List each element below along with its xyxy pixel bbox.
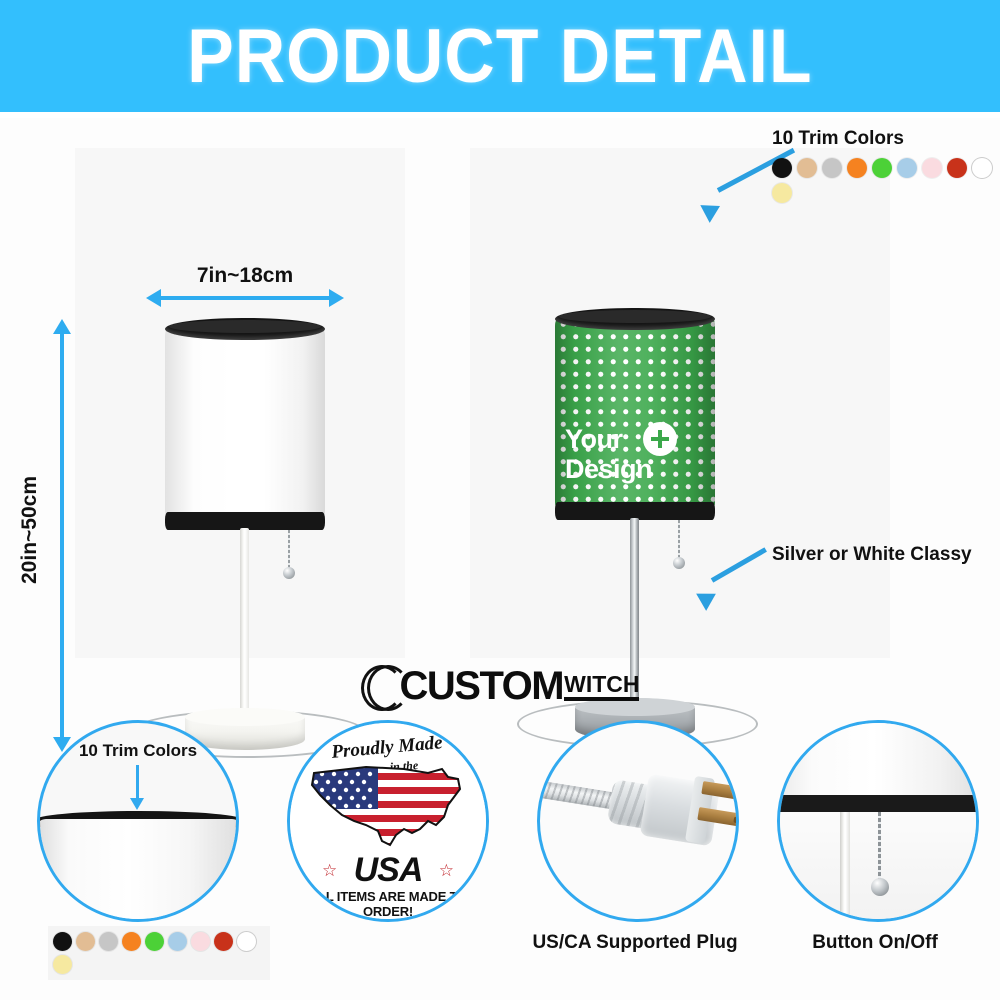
base-finish-callout-arrow: [700, 558, 780, 604]
panel-circle: [537, 720, 739, 922]
panel-made-in-usa: Proudly Made in the: [260, 714, 510, 1000]
pull-chain: [678, 520, 680, 560]
usa-sub-text: ALL ITEMS ARE MADE TO ORDER!: [290, 889, 486, 919]
panel-circle: 10 Trim Colors: [37, 720, 239, 922]
swatch-yellow[interactable]: [53, 955, 72, 974]
lamp-shade-white: [165, 318, 325, 530]
swatch-white[interactable]: [972, 158, 992, 178]
shade-trim-closeup: [777, 795, 979, 812]
panel-switch-caption: Button On/Off: [750, 932, 1000, 954]
lamp-shade-green: Your Design: [555, 308, 715, 520]
shade-surface: [165, 326, 325, 522]
swatch-light-blue[interactable]: [168, 932, 187, 951]
shade-trim-top: [165, 318, 325, 340]
shade-trim-top-cap: [169, 320, 321, 333]
trim-colors-swatch-row[interactable]: [772, 158, 1000, 203]
plus-icon: [643, 422, 677, 456]
swatch-green[interactable]: [872, 158, 892, 178]
down-arrow-icon: [136, 765, 139, 799]
logo-secondary-text: WITCH: [564, 672, 639, 701]
your-design-text: Your Design: [565, 424, 705, 484]
swatch-gray[interactable]: [99, 932, 118, 951]
swatch-yellow[interactable]: [772, 183, 792, 203]
width-dimension-label: 7in~18cm: [160, 264, 330, 288]
feature-panels: 10 Trim Colors Proudly Made in the: [0, 714, 1000, 1000]
shade-surface: Your Design: [555, 316, 715, 512]
pull-chain-ball: [673, 557, 685, 569]
swatch-white[interactable]: [237, 932, 256, 951]
design-line-2: Design: [565, 454, 705, 484]
swatch-black[interactable]: [53, 932, 72, 951]
shade-surface-closeup: [37, 819, 239, 922]
usa-badge: Proudly Made in the: [290, 723, 486, 919]
usa-map-flag-icon: [308, 759, 470, 851]
panel-trim-title: 10 Trim Colors: [40, 741, 236, 761]
logo-primary-text: CUSTOM: [400, 664, 564, 709]
swatch-pink[interactable]: [922, 158, 942, 178]
pull-chain: [288, 530, 290, 570]
pull-chain-ball: [283, 567, 295, 579]
base-finish-label: Silver or White Classy: [772, 544, 972, 566]
swatch-red[interactable]: [214, 932, 233, 951]
shade-closeup: [777, 720, 979, 799]
shade-trim-top: [555, 308, 715, 330]
panel-trim-swatch-row[interactable]: [48, 926, 270, 980]
swatch-tan[interactable]: [797, 158, 817, 178]
design-line-1: Your: [565, 424, 705, 454]
height-dimension-label: 20in~50cm: [18, 350, 42, 710]
swatch-orange[interactable]: [122, 932, 141, 951]
lamp-pole-closeup: [840, 812, 850, 922]
usa-big-text: USA: [290, 851, 486, 890]
page-title: PRODUCT DETAIL: [187, 13, 812, 100]
trim-colors-legend: 10 Trim Colors: [772, 128, 1000, 203]
swatch-red[interactable]: [947, 158, 967, 178]
product-detail-page: PRODUCT DETAIL 7in~18cm 20in~50cm: [0, 0, 1000, 1000]
header-banner: PRODUCT DETAIL: [0, 0, 1000, 112]
swatch-gray[interactable]: [822, 158, 842, 178]
shade-trim-top-cap: [559, 310, 711, 323]
swatch-black[interactable]: [772, 158, 792, 178]
c-ring-icon: [361, 665, 403, 707]
swatch-pink[interactable]: [191, 932, 210, 951]
panel-switch: Button On/Off: [750, 714, 1000, 1000]
panel-plug: US/CA Supported Plug: [510, 714, 760, 1000]
panel-circle: [777, 720, 979, 922]
star-icon-right: ☆: [439, 861, 454, 881]
swatch-green[interactable]: [145, 932, 164, 951]
swatch-light-blue[interactable]: [897, 158, 917, 178]
panel-plug-caption: US/CA Supported Plug: [510, 932, 760, 954]
brand-logo: CUSTOM WITCH: [0, 662, 1000, 710]
panel-circle: Proudly Made in the: [287, 720, 489, 922]
swatch-orange[interactable]: [847, 158, 867, 178]
swatch-tan[interactable]: [76, 932, 95, 951]
pull-chain-closeup: [878, 812, 881, 882]
trim-colors-title: 10 Trim Colors: [772, 128, 1000, 150]
panel-trim-colors: 10 Trim Colors: [10, 714, 260, 1000]
width-dimension-arrow: [160, 296, 330, 300]
pull-chain-ball-closeup: [871, 878, 889, 896]
